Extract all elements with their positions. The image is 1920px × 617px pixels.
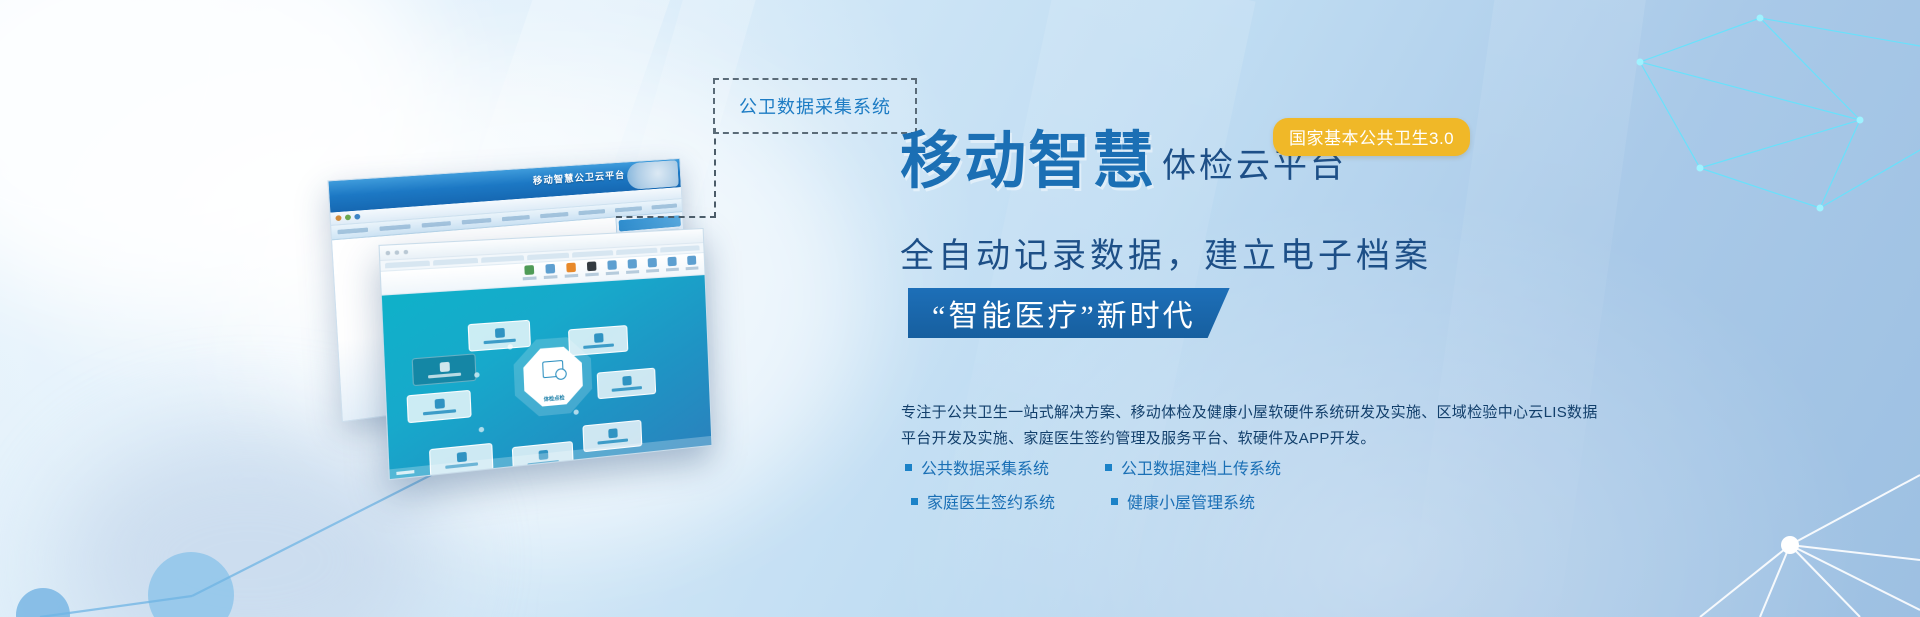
dashboard-node xyxy=(412,353,477,386)
list-item-label: 公卫数据建档上传系统 xyxy=(1121,455,1281,479)
list-item-label: 健康小屋管理系统 xyxy=(1127,489,1255,513)
bullet-square-icon xyxy=(911,498,918,505)
dashboard-node xyxy=(407,390,472,423)
list-item-label: 家庭医生签约系统 xyxy=(927,489,1055,513)
callout-box: 公卫数据采集系统 xyxy=(713,78,917,134)
list-item[interactable]: 公共数据采集系统 xyxy=(905,455,1065,479)
description-text: 专注于公共卫生一站式解决方案、移动体检及健康小屋软硬件系统研发及实施、区域检验中… xyxy=(901,400,1601,452)
callout-label: 公卫数据采集系统 xyxy=(739,97,891,117)
list-item[interactable]: 家庭医生签约系统 xyxy=(905,489,1065,513)
dashboard-hub: 体检点检 xyxy=(513,335,594,418)
mock-back-title-text: 移动智慧公卫云平台 xyxy=(533,168,626,188)
promo-banner: 移动智慧公卫云平台 xyxy=(0,0,1920,617)
ribbon-label: “智能医疗”新时代 xyxy=(932,291,1196,335)
badge-label: 国家基本公共卫生3.0 xyxy=(1289,129,1454,148)
bullet-square-icon xyxy=(905,464,912,471)
ribbon-banner: “智能医疗”新时代 xyxy=(908,288,1230,338)
feature-list: 公共数据采集系统 公卫数据建档上传系统 家庭医生签约系统 健康小屋管理系统 xyxy=(905,455,1281,513)
screenshot-mockup-front: 体检点检 xyxy=(378,228,712,480)
callout-leader-vertical xyxy=(714,128,716,218)
headline-emphasis: 移动智慧 xyxy=(900,132,1156,191)
exam-report-icon xyxy=(542,360,564,378)
list-item-label: 公共数据采集系统 xyxy=(921,455,1049,479)
callout-leader-horizontal xyxy=(616,216,716,218)
mock-front-dashboard: 体检点检 xyxy=(382,275,712,479)
list-item[interactable]: 健康小屋管理系统 xyxy=(1105,489,1281,513)
headline-subline: 全自动记录数据，建立电子档案 xyxy=(900,228,1432,277)
status-badge: 国家基本公共卫生3.0 xyxy=(1273,118,1470,156)
mock-back-photo xyxy=(626,160,678,190)
dashboard-node xyxy=(597,368,657,400)
list-item[interactable]: 公卫数据建档上传系统 xyxy=(1105,455,1281,479)
bullet-square-icon xyxy=(1105,464,1112,471)
bullet-square-icon xyxy=(1111,498,1118,505)
